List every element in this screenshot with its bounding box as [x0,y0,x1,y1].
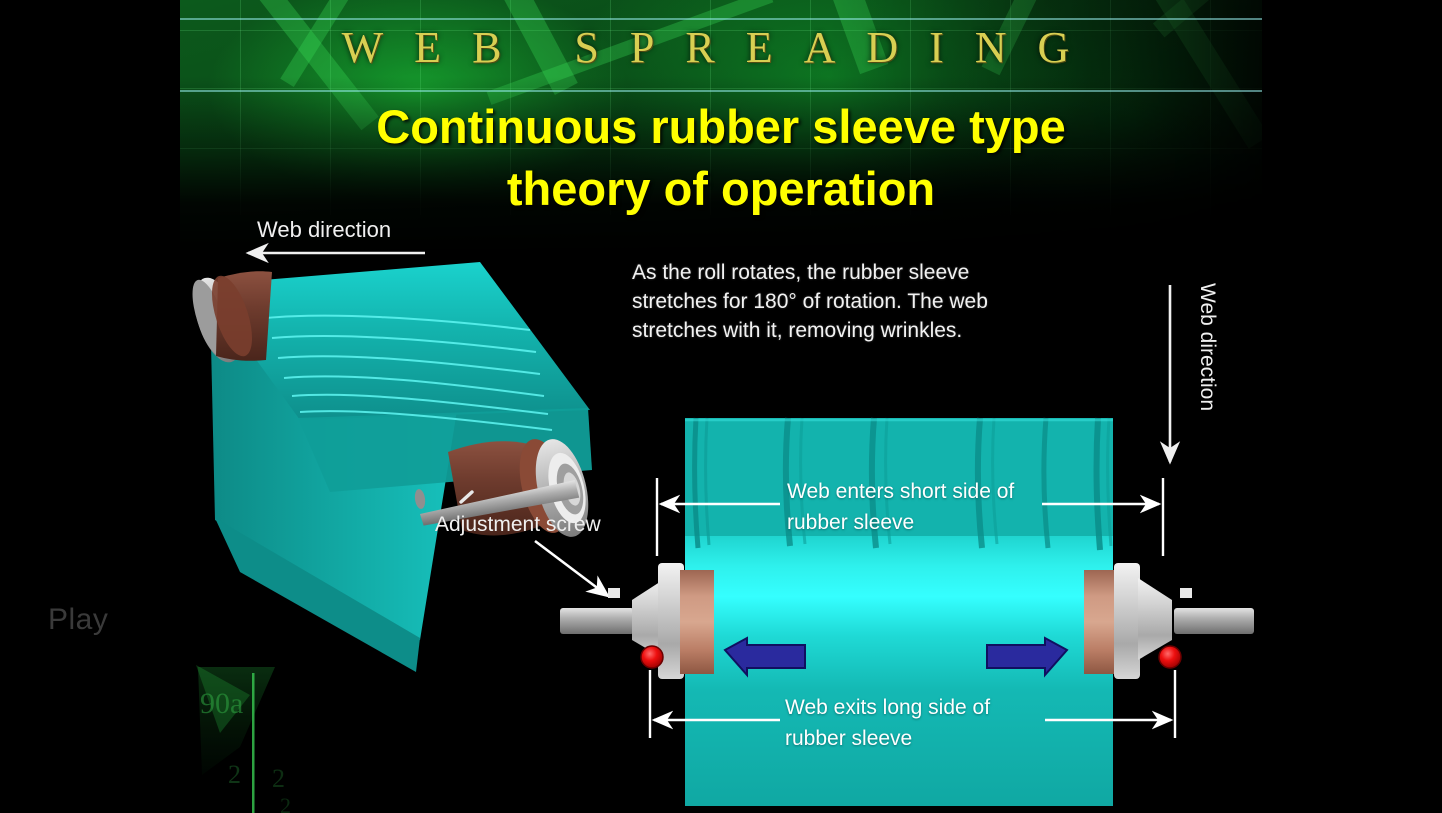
rubber-sleeve-right [1084,570,1118,674]
roller-end-right [1084,563,1254,679]
slide-canvas: WEB SPREADING Continuous rubber sleeve t… [180,0,1262,813]
roller-end-left [560,563,714,679]
banner-title: WEB SPREADING [180,22,1262,73]
page-title-line-1: Continuous rubber sleeve type [180,96,1262,158]
roller-shaft-left [560,608,634,634]
svg-text:90a: 90a [200,687,243,720]
banner-rule-bottom [180,90,1262,92]
web-sheet-front [210,268,480,640]
banner-rule-top [180,18,1262,20]
roller-hub-right [1138,578,1172,660]
svg-text:2: 2 [228,760,241,789]
label-web-enters: Web enters short side of rubber sleeve [787,476,1014,538]
rubber-sleeve-left [680,570,714,674]
roller-end-top-left [185,271,272,368]
rubber-sleeve-top [216,271,272,361]
marker-dot-right [1159,646,1181,668]
page-title: Continuous rubber sleeve type theory of … [180,96,1262,220]
roller-cap-right [1114,563,1140,679]
svg-text:2: 2 [272,764,285,793]
perspective-roller-assembly [185,262,597,672]
roller-cap-left [658,563,684,679]
roller-shaft-right [1174,608,1254,634]
web-sheet-lower [215,518,420,672]
label-web-direction-left: Web direction [257,216,391,244]
play-button[interactable]: Play [48,603,108,637]
label-adjustment-screw: Adjustment screw [435,511,601,539]
adjustment-screw-right[interactable] [1180,588,1192,598]
spread-arrow-right [987,638,1067,675]
adjustment-screw-left[interactable] [608,588,620,598]
page-title-line-2: theory of operation [180,158,1262,220]
body-text: As the roll rotates, the rubber sleeve s… [632,258,1052,345]
web-wrinkle-lines [266,316,552,430]
label-web-exits: Web exits long side of rubber sleeve [785,692,990,754]
background-artifact: 90a 2 2 2 [180,655,355,813]
marker-dot-left [641,646,663,668]
roller-hub-left [632,578,666,660]
web-sheet-top [202,262,590,420]
screenshot-root: Play [0,0,1442,813]
svg-text:2: 2 [280,793,291,813]
adjustment-screw-pointer [461,492,608,596]
video-frame: Play [0,0,1442,813]
spread-arrow-left [725,638,805,675]
label-web-direction-right: Web direction [1193,283,1221,411]
web-sheet-span [298,408,592,492]
spread-arrows [725,638,1067,675]
